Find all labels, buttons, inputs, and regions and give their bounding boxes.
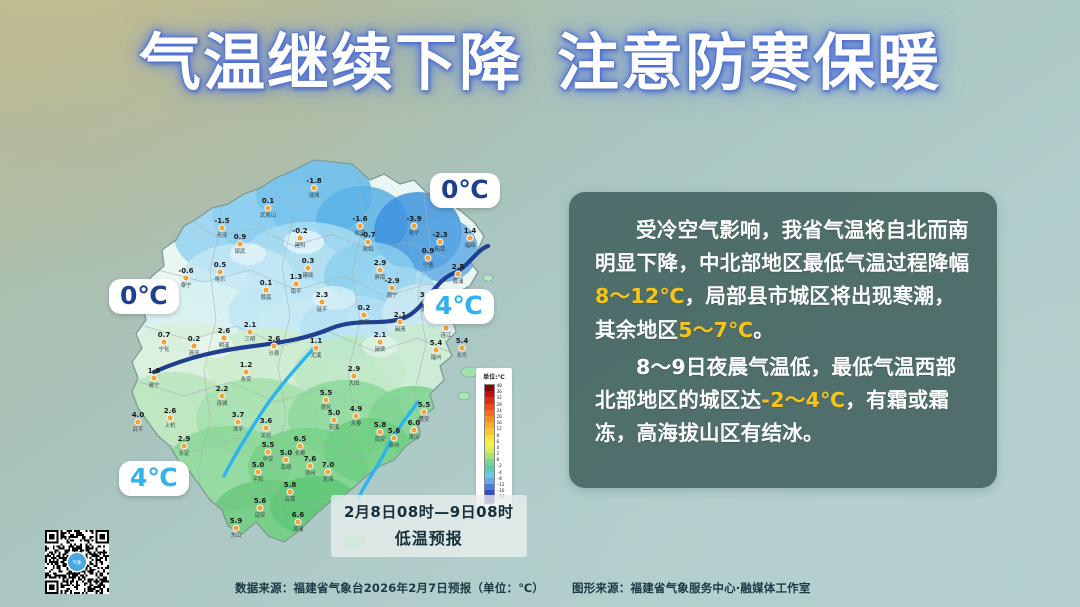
- station-name: 华安: [263, 455, 274, 463]
- page-title: 气温继续下降注意防寒保暖: [0, 28, 1080, 97]
- isotherm-badge-4-lower-left: 4℃: [119, 461, 189, 496]
- station-dot: [323, 397, 329, 403]
- station-temp: 5.6: [254, 497, 267, 505]
- station-dot: [377, 429, 383, 435]
- station-name: 古田: [359, 318, 370, 326]
- station-temp: 2.3: [316, 291, 329, 299]
- station-temp: 0.3: [302, 257, 315, 265]
- station-name: 连城: [217, 399, 228, 407]
- station-name: 武平: [133, 425, 144, 433]
- map-caption-title: 低温预报: [344, 525, 514, 549]
- station-temp: 1.8: [148, 367, 161, 375]
- station-dot: [325, 469, 331, 475]
- station-dot: [421, 409, 427, 415]
- isotherm-badge-4-mid-right: 4℃: [424, 289, 494, 324]
- station-temp: 0.2: [358, 304, 371, 312]
- station-name: 邵武: [235, 247, 246, 255]
- station-name: 武夷山: [260, 211, 276, 219]
- station-dot: [389, 285, 395, 291]
- map-legend: 单位:℃ 403632282420161286420-2-4-8-12-16-2…: [476, 368, 512, 509]
- station-temp: 0.2: [188, 335, 201, 343]
- station-name: 大田: [349, 379, 360, 387]
- station-temp: -2.3: [432, 231, 447, 239]
- station-temp: 0.9: [234, 233, 247, 241]
- station-name: 东山: [231, 531, 242, 539]
- temperature-map[interactable]: -1.8浦城0.1武夷山-1.5光泽0.9邵武-0.2建阳-1.6松溪-0.7政…: [118, 150, 538, 560]
- station-name: 永安: [241, 375, 252, 383]
- station-temp: -1.8: [306, 177, 321, 185]
- station-dot: [183, 275, 189, 281]
- station-dot: [235, 419, 241, 425]
- station-dot: [353, 413, 359, 419]
- station-name: 宁化: [159, 345, 170, 353]
- station-name: 周宁: [387, 291, 398, 299]
- station-temp: 0.1: [260, 279, 273, 287]
- station-name: 上杭: [165, 421, 176, 429]
- station-dot: [319, 299, 325, 305]
- title-text: 气温继续下降注意防寒保暖: [139, 28, 941, 97]
- station-temp: 0.1: [262, 197, 275, 205]
- station-dot: [361, 312, 367, 318]
- station-dot: [397, 319, 403, 325]
- station-temp: 5.5: [320, 389, 333, 397]
- station-name: 顺昌: [261, 294, 272, 301]
- station-name: 德化: [321, 403, 332, 411]
- station-长乐: 5.4长乐: [456, 337, 469, 359]
- station-name: 泰宁: [181, 281, 192, 289]
- station-temp: 1.4: [464, 227, 477, 235]
- station-temp: 4.9: [350, 405, 363, 413]
- station-dot: [181, 443, 187, 449]
- station-dot: [221, 335, 227, 341]
- station-temp: 2.6: [164, 407, 177, 415]
- station-temp: 7.6: [304, 455, 317, 463]
- station-dot: [243, 369, 249, 375]
- station-temp: 5.0: [280, 449, 293, 457]
- station-temp: 2.1: [244, 321, 257, 329]
- station-temp: 2.1: [394, 311, 407, 319]
- station-name: 连江: [441, 331, 452, 339]
- station-name: 沙县: [269, 350, 280, 357]
- station-dot: [255, 469, 261, 475]
- station-temp: 3.7: [232, 411, 245, 419]
- station-dot: [247, 329, 253, 335]
- isotherm-badge-0-upper-right: 0℃: [430, 173, 500, 208]
- station-dot: [357, 223, 363, 229]
- station-dot: [135, 419, 141, 425]
- credit-data-source: 数据来源：福建省气象台2026年2月7日预报（单位：℃）: [235, 580, 544, 596]
- station-name: 三明: [245, 336, 256, 343]
- station-dot: [437, 239, 443, 245]
- station-name: 政和: [363, 245, 374, 253]
- station-dot: [219, 225, 225, 231]
- station-name: 南靖: [281, 463, 292, 471]
- station-dot: [297, 443, 303, 449]
- station-dot: [433, 347, 439, 353]
- station-temp: 2.9: [374, 259, 387, 267]
- station-name: 龙岩: [261, 431, 272, 439]
- station-temp: 5.5: [262, 441, 275, 449]
- station-name: 莆田: [409, 433, 420, 441]
- station-dot: [217, 269, 223, 275]
- station-temp: 2.6: [218, 327, 231, 335]
- station-name: 永春: [351, 419, 362, 427]
- station-temp: 2.6: [268, 335, 281, 343]
- station-temp: -1.5: [214, 217, 229, 225]
- station-name: 诏安: [255, 511, 266, 519]
- station-temp: 5.8: [284, 481, 297, 489]
- station-name: 福鼎: [465, 241, 476, 249]
- station-name: 霞浦: [453, 277, 464, 285]
- station-name: 安溪: [329, 423, 340, 431]
- legend-body: 403632282420161286420-2-4-8-12-16-20: [479, 384, 509, 504]
- station-name: 惠安: [419, 415, 430, 423]
- station-temp: 7.0: [322, 461, 335, 469]
- legend-tick-labels: 403632282420161286420-2-4-8-12-16-20: [496, 384, 505, 504]
- station-dot: [287, 489, 293, 495]
- station-dot: [307, 463, 313, 469]
- station-name: 浦城: [309, 191, 320, 199]
- station-temp: -0.2: [292, 227, 307, 235]
- forecast-text-panel: 受冷空气影响，我省气温将自北而南明显下降，中北部地区最低气温过程降幅8～12℃，…: [569, 192, 997, 488]
- station-dot: [443, 325, 449, 331]
- station-dot: [351, 373, 357, 379]
- station-dot: [295, 519, 301, 525]
- station-dot: [271, 343, 277, 349]
- credit-graphic-source: 图形来源：福建省气象服务中心·融媒体工作室: [572, 580, 811, 596]
- title-part-2: 注意防寒保暖: [557, 26, 941, 99]
- station-dot: [455, 271, 461, 277]
- station-temp: 0.5: [214, 261, 227, 269]
- station-temp: 5.4: [430, 339, 443, 347]
- station-temp: 1.2: [240, 361, 253, 369]
- station-dot: [311, 185, 317, 191]
- station-name: 闽侯: [375, 345, 386, 353]
- station-武平: 4.0武平: [132, 411, 145, 433]
- station-name: 漳州: [305, 469, 316, 477]
- station-name: 福州: [431, 353, 442, 361]
- station-temp: 2.9: [178, 435, 191, 443]
- station-dot: [365, 239, 371, 245]
- station-dot: [425, 255, 431, 261]
- station-dot: [467, 235, 473, 241]
- credits-bar: 数据来源：福建省气象台2026年2月7日预报（单位：℃） 图形来源：福建省气象服…: [0, 578, 1080, 602]
- legend-color-bar: [484, 384, 495, 504]
- station-dot: [263, 287, 269, 293]
- station-temp: -0.7: [360, 231, 375, 239]
- station-dot: [283, 457, 289, 463]
- station-temp: 5.6: [388, 427, 401, 435]
- station-name: 闽清: [395, 325, 406, 333]
- station-name: 龙海: [323, 475, 334, 483]
- station-temp: 4.0: [132, 411, 145, 419]
- station-temp: 0.7: [158, 331, 171, 339]
- station-name: 柘荣: [435, 245, 446, 253]
- station-name: 延平: [317, 305, 328, 313]
- station-temp: 5.0: [252, 461, 265, 469]
- station-dot: [161, 339, 167, 345]
- station-name: 明溪: [219, 341, 230, 349]
- station-temp: 5.4: [456, 337, 469, 345]
- station-temp: -1.6: [352, 215, 367, 223]
- station-name: 建阳: [295, 241, 306, 249]
- station-dot: [151, 375, 157, 381]
- station-name: 尤溪: [311, 351, 322, 359]
- station-temp: -0.6: [178, 267, 193, 275]
- station-name: 光泽: [217, 231, 228, 239]
- station-dot: [167, 415, 173, 421]
- station-name: 漳浦: [293, 525, 304, 533]
- station-name: 平和: [253, 475, 264, 483]
- station-temp: 2.5: [452, 263, 465, 271]
- station-dot: [297, 235, 303, 241]
- station-dot: [257, 505, 263, 511]
- map-caption: 2月8日08时—9日08时 低温预报: [331, 495, 527, 557]
- station-dot: [411, 427, 417, 433]
- station-name: 永定: [179, 449, 190, 457]
- station-temp: 6.5: [294, 435, 307, 443]
- station-name: 云霄: [285, 496, 296, 503]
- station-temp: -3.9: [406, 215, 421, 223]
- highlighted-value: 5～7℃: [678, 318, 753, 342]
- station-dot: [411, 223, 417, 229]
- station-name: 长乐: [457, 351, 468, 359]
- title-part-1: 气温继续下降: [139, 26, 523, 99]
- station-name: 建宁: [149, 381, 160, 389]
- station-temp: -2.9: [384, 277, 399, 285]
- map-caption-period: 2月8日08时—9日08时: [344, 501, 514, 522]
- station-dot: [293, 281, 299, 287]
- station-name: 宁德: [423, 261, 434, 269]
- forecast-paragraph-2: 8～9日夜晨气温低，最低气温西部北部地区的城区达-2～4℃，有霜或霜冻，高海拔山…: [595, 351, 971, 451]
- station-name: 漳平: [233, 425, 244, 433]
- station-dot: [263, 425, 269, 431]
- station-dot: [237, 241, 243, 247]
- station-dot: [313, 345, 319, 351]
- highlighted-value: 8～12℃: [595, 284, 685, 308]
- station-name: 泉州: [389, 441, 400, 449]
- station-dot: [265, 205, 271, 211]
- station-temp: 0.9: [422, 247, 435, 255]
- station-temp: 6.6: [292, 511, 305, 519]
- station-temp: 2.2: [216, 385, 229, 393]
- highlighted-value: -2～4℃: [761, 388, 845, 412]
- station-dot: [219, 393, 225, 399]
- station-dot: [377, 267, 383, 273]
- station-dot: [305, 265, 311, 271]
- svg-text:气象: 气象: [72, 559, 82, 566]
- station-temp: 3.6: [260, 417, 273, 425]
- station-dot: [331, 417, 337, 423]
- station-dot: [391, 435, 397, 441]
- station-temp: 2.1: [374, 331, 387, 339]
- forecast-paragraph-1: 受冷空气影响，我省气温将自北而南明显下降，中北部地区最低气温过程降幅8～12℃，…: [595, 214, 971, 347]
- station-name: 寿宁: [409, 229, 420, 237]
- station-dot: [377, 339, 383, 345]
- station-dot: [265, 449, 271, 455]
- station-dot: [459, 345, 465, 351]
- station-name: 将乐: [215, 275, 226, 283]
- station-name: 建瓯: [303, 271, 314, 279]
- station-temp: 1.3: [290, 273, 303, 281]
- body-text: 受冷空气影响，我省气温将自北而南明显下降，中北部地区最低气温过程降幅: [595, 218, 969, 275]
- station-name: 南安: [375, 435, 386, 443]
- station-name: 清流: [189, 349, 200, 357]
- isotherm-badge-0-left: 0℃: [109, 279, 179, 314]
- body-text: 。: [753, 318, 774, 342]
- station-temp: 1.1: [310, 337, 323, 345]
- legend-title: 单位:℃: [479, 372, 509, 381]
- station-name: 南平: [291, 287, 302, 295]
- station-dot: [191, 343, 197, 349]
- station-temp: 5.5: [418, 401, 431, 409]
- station-temp: 5.8: [374, 421, 387, 429]
- station-temp: 5.9: [230, 517, 243, 525]
- station-temp: 2.9: [348, 365, 361, 373]
- station-dot: [233, 525, 239, 531]
